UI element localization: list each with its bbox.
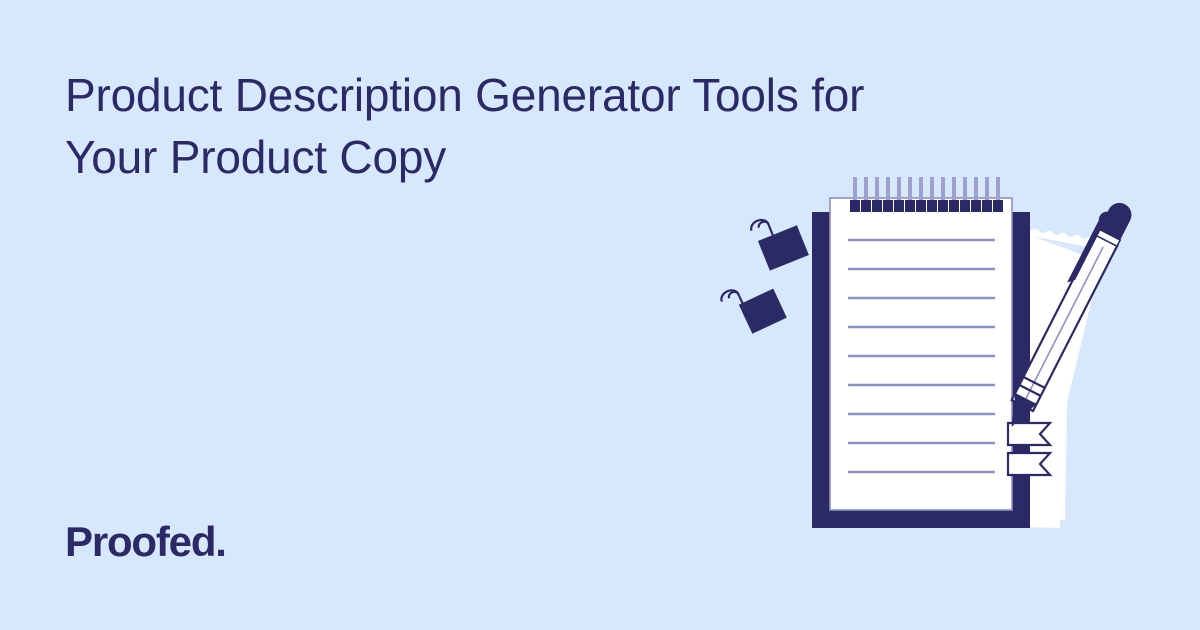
coil xyxy=(861,177,871,212)
spiral-notepad xyxy=(812,198,1030,528)
coil xyxy=(927,177,937,212)
coil xyxy=(971,177,981,212)
coil xyxy=(960,177,970,212)
coil xyxy=(949,177,959,212)
coil xyxy=(982,177,992,212)
coil xyxy=(916,177,926,212)
coil xyxy=(894,177,904,212)
binder-clip-lower xyxy=(720,273,787,339)
coil xyxy=(905,177,915,212)
coil xyxy=(872,177,882,212)
coil xyxy=(993,177,1003,212)
notepad-page xyxy=(830,198,1012,510)
share-card-canvas: Product Description Generator Tools for … xyxy=(0,0,1200,630)
brand-logo-wordmark: Proofed. xyxy=(65,521,226,563)
coil xyxy=(938,177,948,212)
binder-clip-upper xyxy=(749,208,809,272)
coil xyxy=(850,177,860,212)
coil xyxy=(883,177,893,212)
hero-illustration xyxy=(720,170,1140,590)
